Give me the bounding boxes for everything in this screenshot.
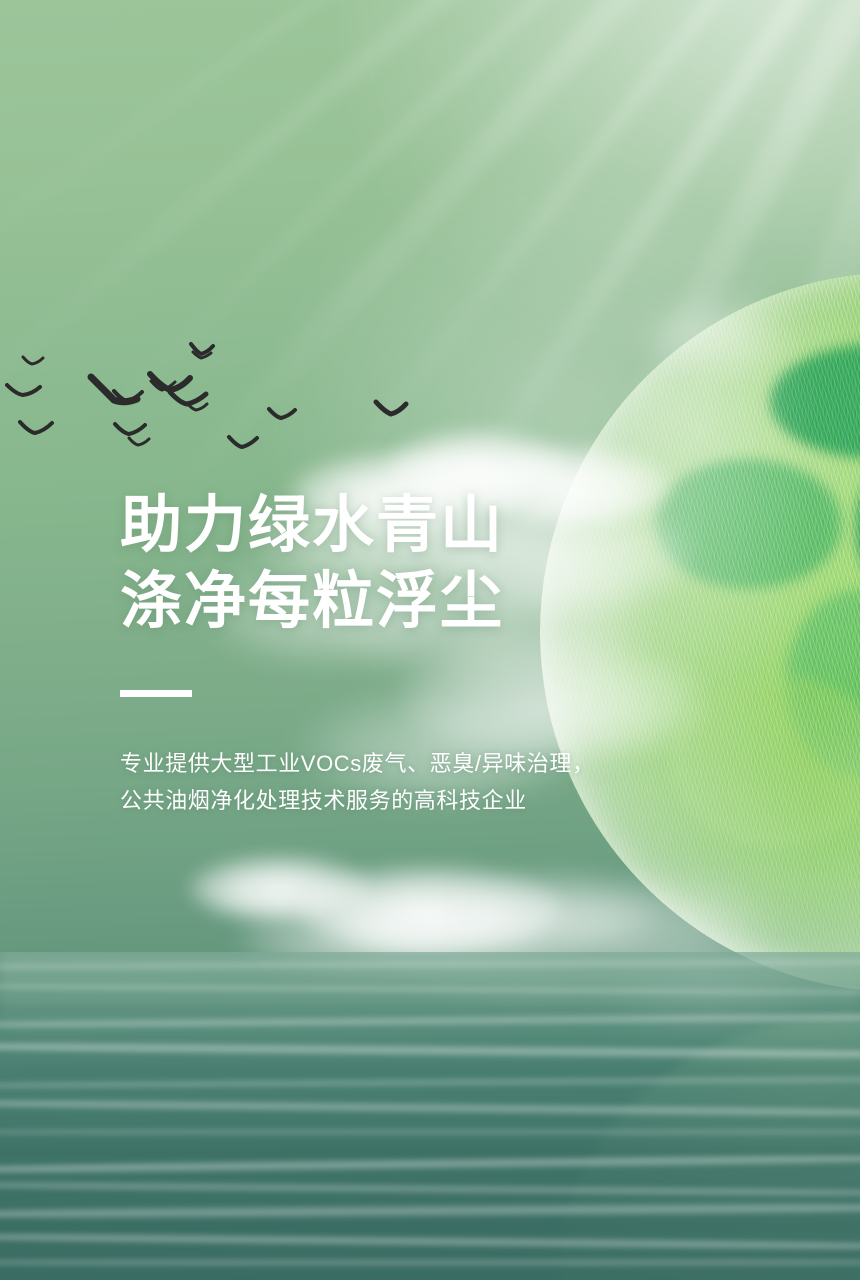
bird-icon	[268, 408, 296, 421]
cloud-puff	[300, 866, 560, 952]
bird-icon	[128, 437, 150, 448]
water-ripple	[0, 1128, 860, 1136]
bird-icon	[374, 400, 408, 418]
bird-icon	[6, 383, 42, 401]
bird-icon	[192, 351, 212, 361]
light-ray	[0, 0, 470, 359]
headline-divider	[120, 690, 192, 697]
water-ripple	[0, 1220, 860, 1234]
bird-icon	[168, 390, 208, 410]
headline-line-1: 助力绿水青山	[120, 488, 740, 564]
water-ripple	[0, 1097, 860, 1119]
bird-icon	[150, 380, 176, 393]
subtitle-line-1: 专业提供大型工业VOCs废气、恶臭/异味治理，	[120, 745, 740, 782]
cloud-puff	[190, 856, 370, 920]
bird-icon	[186, 402, 208, 413]
bird-icon	[18, 420, 54, 438]
bird-icon	[148, 372, 192, 396]
headline-line-2: 涤净每粒浮尘	[120, 564, 740, 640]
bird-icon	[228, 436, 258, 450]
water-ripple	[0, 1180, 860, 1199]
hero-copy: 助力绿水青山 涤净每粒浮尘 专业提供大型工业VOCs废气、恶臭/异味治理， 公共…	[120, 488, 740, 819]
water-surface	[0, 952, 860, 1280]
bird-icon	[113, 422, 147, 438]
bird-icon	[88, 374, 140, 414]
water-ripple	[0, 1040, 860, 1062]
water-ripple	[0, 1258, 860, 1267]
water-ripple	[0, 1201, 860, 1222]
bird-icon	[190, 343, 214, 357]
subtitle-line-2: 公共油烟净化处理技术服务的高科技企业	[120, 782, 740, 819]
hero-poster: 助力绿水青山 涤净每粒浮尘 专业提供大型工业VOCs废气、恶臭/异味治理， 公共…	[0, 0, 860, 1280]
bird-icon	[113, 390, 143, 404]
light-ray	[0, 0, 560, 437]
bird-icon	[22, 356, 44, 368]
